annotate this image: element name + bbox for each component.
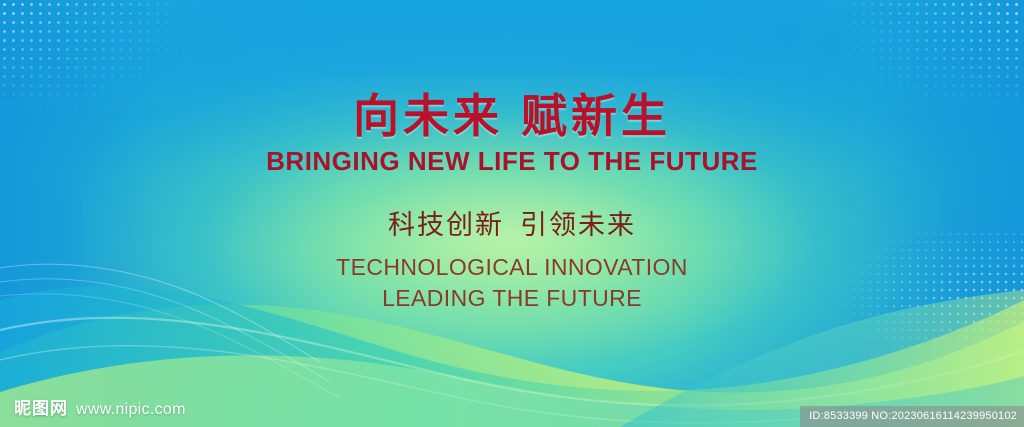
brand-name-chinese: 昵图网 [14, 394, 68, 419]
image-id-badge: ID:8533399 NO:20230616114239950102 [800, 406, 1024, 427]
poster-canvas: 向未来赋新生 BRINGING NEW LIFE TO THE FUTURE 科… [0, 0, 1024, 427]
brand-website-url: www.nipic.com [76, 401, 186, 419]
watermark-brand: 昵图网 www.nipic.com [14, 394, 186, 419]
wave-decoration [0, 0, 1024, 427]
